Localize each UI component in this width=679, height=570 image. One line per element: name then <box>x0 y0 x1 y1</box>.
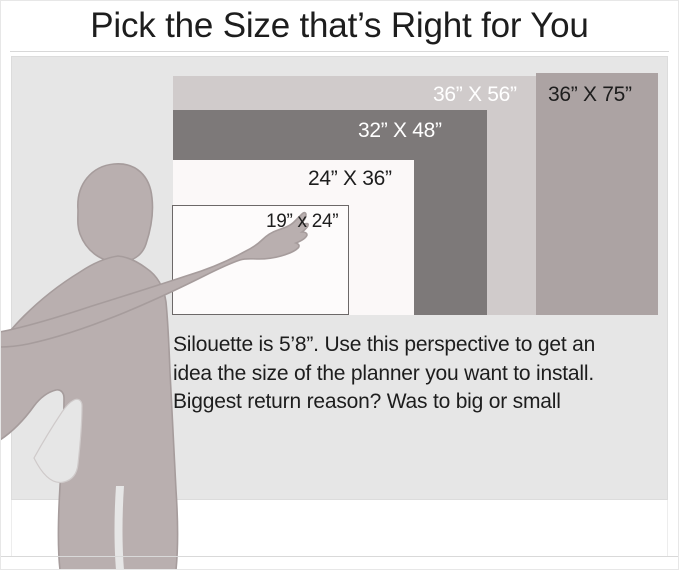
title-divider <box>10 51 669 52</box>
infographic-canvas: Pick the Size that’s Right for You 36” X… <box>0 0 679 570</box>
size-label-19x24: 19” x 24” <box>266 212 338 231</box>
size-label-36x75: 36” X 75” <box>548 84 632 105</box>
floor-line <box>0 556 679 557</box>
caption-line-2: idea the size of the planner you want to… <box>173 360 653 389</box>
caption-line-1: Silouette is 5’8”. Use this perspective … <box>173 331 653 360</box>
page-title: Pick the Size that’s Right for You <box>0 2 679 50</box>
caption-line-3: Biggest return reason? Was to big or sma… <box>173 388 653 417</box>
size-label-36x56: 36” X 56” <box>433 84 517 105</box>
size-rect-36x75[interactable] <box>536 73 658 315</box>
size-label-32x48: 32” X 48” <box>358 120 442 141</box>
caption-text: Silouette is 5’8”. Use this perspective … <box>173 331 653 417</box>
illustration-panel-lower <box>11 500 668 557</box>
size-label-24x36: 24” X 36” <box>308 168 392 189</box>
